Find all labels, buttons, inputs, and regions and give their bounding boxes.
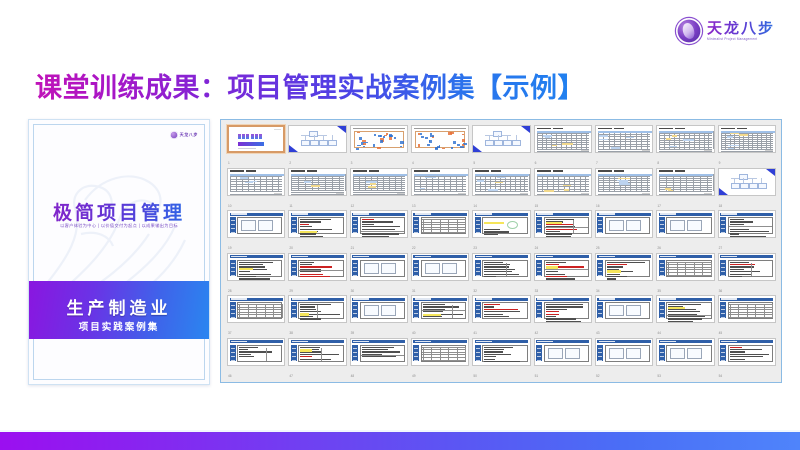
- slide-thumbnail-cell[interactable]: 35: [656, 253, 714, 294]
- slide-thumbnail-cell[interactable]: 42: [534, 295, 592, 336]
- slide-thumbnail[interactable]: [227, 125, 285, 153]
- slide-number: 34: [596, 290, 600, 293]
- slide-thumbnail-cell[interactable]: 34: [595, 253, 653, 294]
- slide-thumbnail[interactable]: [227, 295, 285, 323]
- slide-thumbnail[interactable]: [288, 253, 346, 281]
- slide-thumbnail-cell[interactable]: 14: [472, 168, 530, 209]
- slide-thumbnail[interactable]: [472, 295, 530, 323]
- slide-thumbnail-cell[interactable]: 54: [718, 338, 776, 379]
- slide-thumbnail[interactable]: [534, 295, 592, 323]
- slide-thumbnail-cell[interactable]: 22: [411, 210, 469, 251]
- dragon-circle-icon-small: [170, 131, 178, 139]
- slide-number: 22: [412, 247, 416, 250]
- slide-thumbnail[interactable]: [411, 168, 469, 196]
- slide-number: 18: [719, 205, 723, 208]
- slide-thumbnail-cell[interactable]: 45: [718, 295, 776, 336]
- slide-thumbnail-cell[interactable]: 31: [411, 253, 469, 294]
- slide-thumbnail[interactable]: [656, 168, 714, 196]
- slide-number: 39: [351, 332, 355, 335]
- slide-thumbnail-cell[interactable]: 23: [472, 210, 530, 251]
- slide-thumbnail-cell[interactable]: 47: [288, 338, 346, 379]
- slide-thumbnail-cell[interactable]: 49: [411, 338, 469, 379]
- slide-thumbnail-cell[interactable]: 48: [350, 338, 408, 379]
- slide-thumbnail-cell[interactable]: 11: [288, 168, 346, 209]
- slide-thumbnail-cell[interactable]: 27: [718, 210, 776, 251]
- slide-thumbnail[interactable]: [411, 210, 469, 238]
- slide-thumbnail[interactable]: [595, 338, 653, 366]
- book-main-title: 极简项目管理: [29, 198, 209, 225]
- slide-thumbnail-cell[interactable]: 6: [534, 125, 592, 166]
- slide-thumbnail[interactable]: [350, 338, 408, 366]
- slide-number: 47: [289, 375, 293, 378]
- slide-thumbnail-cell[interactable]: 24: [534, 210, 592, 251]
- slide-thumbnail[interactable]: [718, 295, 776, 323]
- slide-thumbnail[interactable]: [472, 125, 530, 153]
- slide-thumbnail[interactable]: [350, 253, 408, 281]
- slide-number: 53: [657, 375, 661, 378]
- slide-number: 24: [535, 247, 539, 250]
- slide-number: 21: [351, 247, 355, 250]
- slide-number: 10: [228, 205, 232, 208]
- slide-thumbnail-cell[interactable]: 40: [411, 295, 469, 336]
- slide-thumbnail[interactable]: [227, 338, 285, 366]
- slide-number: 4: [412, 162, 414, 165]
- slide-thumbnail[interactable]: [288, 168, 346, 196]
- slide-number: 16: [596, 205, 600, 208]
- book-band-title: 生产制造业: [29, 294, 209, 319]
- slide-thumbnail-cell[interactable]: 2: [288, 125, 346, 166]
- book-cover-logo: 天龙八步: [170, 131, 198, 139]
- slide-number: 12: [351, 205, 355, 208]
- brand-logo: 天龙八步 Minimalist Project Management: [676, 14, 788, 48]
- slide-number: 45: [719, 332, 723, 335]
- slide-number: 9: [719, 162, 721, 165]
- slide-thumbnail-cell[interactable]: 12: [350, 168, 408, 209]
- slide-number: 15: [535, 205, 539, 208]
- book-band-subtitle: 项目实践案例集: [29, 319, 209, 333]
- slide-number: 41: [473, 332, 477, 335]
- slide-thumbnail[interactable]: [472, 253, 530, 281]
- slide-thumbnail[interactable]: [595, 168, 653, 196]
- slide-thumbnail[interactable]: [656, 125, 714, 153]
- slide-number: 35: [657, 290, 661, 293]
- slide-thumbnail-cell[interactable]: 50: [472, 338, 530, 379]
- slide-number: 23: [473, 247, 477, 250]
- slide-number: 48: [351, 375, 355, 378]
- slide-thumbnail[interactable]: [288, 295, 346, 323]
- slide-thumbnail[interactable]: [534, 125, 592, 153]
- slide-thumbnail[interactable]: [350, 125, 408, 153]
- slide-number: 27: [719, 247, 723, 250]
- slide-number: 30: [351, 290, 355, 293]
- slide-thumbnail-cell[interactable]: 8: [656, 125, 714, 166]
- slide-thumbnail[interactable]: [350, 295, 408, 323]
- slide-thumbnail-panel[interactable]: 1234567891011121314151617181920212223242…: [220, 119, 782, 383]
- slide-thumbnail[interactable]: [411, 125, 469, 153]
- slide-number: 28: [228, 290, 232, 293]
- slide-thumbnail-cell[interactable]: 13: [411, 168, 469, 209]
- slide-thumbnail-cell[interactable]: 32: [472, 253, 530, 294]
- dragon-circle-icon: [676, 18, 702, 44]
- slide-thumbnail-cell[interactable]: 39: [350, 295, 408, 336]
- slide-thumbnail-cell[interactable]: 30: [350, 253, 408, 294]
- slide-thumbnail[interactable]: [472, 338, 530, 366]
- slide-number: 29: [289, 290, 293, 293]
- slide-thumbnail[interactable]: [350, 168, 408, 196]
- brand-tagline: Minimalist Project Management: [707, 38, 775, 41]
- slide-thumbnail[interactable]: [656, 295, 714, 323]
- slide-number: 6: [535, 162, 537, 165]
- slide-number: 14: [473, 205, 477, 208]
- slide-thumbnail-cell[interactable]: 41: [472, 295, 530, 336]
- slide-thumbnail[interactable]: [411, 295, 469, 323]
- slide-thumbnail-cell[interactable]: 10: [227, 168, 285, 209]
- slide-thumbnail[interactable]: [350, 210, 408, 238]
- slide-number: 43: [596, 332, 600, 335]
- slide-thumbnail[interactable]: [718, 168, 776, 196]
- slide-thumbnail-cell[interactable]: 38: [288, 295, 346, 336]
- slide-number: 31: [412, 290, 416, 293]
- slide-thumbnail[interactable]: [227, 210, 285, 238]
- slide-thumbnail[interactable]: [534, 210, 592, 238]
- slide-thumbnail-cell[interactable]: 19: [227, 210, 285, 251]
- slide-thumbnail-cell[interactable]: 18: [718, 168, 776, 209]
- slide-thumbnail[interactable]: [595, 253, 653, 281]
- slide-number: 32: [473, 290, 477, 293]
- slide-thumbnail[interactable]: [411, 253, 469, 281]
- slide-thumbnail[interactable]: [288, 210, 346, 238]
- slide-number: 37: [228, 332, 232, 335]
- slide-number: 2: [289, 162, 291, 165]
- slide-thumbnail[interactable]: [595, 295, 653, 323]
- slide-thumbnail-cell[interactable]: 36: [718, 253, 776, 294]
- slide-number: 50: [473, 375, 477, 378]
- slide-thumbnail[interactable]: [718, 338, 776, 366]
- slide-thumbnail[interactable]: [718, 125, 776, 153]
- slide-thumbnail-cell[interactable]: 43: [595, 295, 653, 336]
- slide-thumbnail[interactable]: [472, 210, 530, 238]
- slide-number: 36: [719, 290, 723, 293]
- slide-thumbnail[interactable]: [595, 210, 653, 238]
- slide-number: 38: [289, 332, 293, 335]
- slide-thumbnail-grid: 1234567891011121314151617181920212223242…: [227, 125, 776, 378]
- slide-number: 17: [657, 205, 661, 208]
- slide-number: 1: [228, 162, 230, 165]
- slide-thumbnail[interactable]: [534, 338, 592, 366]
- book-cover: 天龙八步 极简项目管理 以客户体验为中心 | 以价值交付为起点 | 以成果输出为…: [28, 119, 210, 385]
- slide-number: 51: [535, 375, 539, 378]
- slide-thumbnail[interactable]: [595, 125, 653, 153]
- book-cover-logo-text: 天龙八步: [180, 132, 198, 138]
- book-subtitle: 以客户体验为中心 | 以价值交付为起点 | 以成果输出为目标: [29, 223, 209, 229]
- slide-thumbnail[interactable]: [227, 253, 285, 281]
- slide-number: 7: [596, 162, 598, 165]
- slide-thumbnail-cell[interactable]: 15: [534, 168, 592, 209]
- slide-thumbnail[interactable]: [534, 253, 592, 281]
- slide-thumbnail[interactable]: [411, 338, 469, 366]
- slide-thumbnail[interactable]: [472, 168, 530, 196]
- slide-thumbnail-cell[interactable]: 28: [227, 253, 285, 294]
- slide-number: 11: [289, 205, 292, 208]
- slide-number: 25: [596, 247, 600, 250]
- slide-thumbnail-cell[interactable]: 16: [595, 168, 653, 209]
- slide-number: 54: [719, 375, 723, 378]
- slide-number: 52: [596, 375, 600, 378]
- slide-thumbnail-cell[interactable]: 52: [595, 338, 653, 379]
- page-title: 课堂训练成果：项目管理实战案例集【示例】: [35, 66, 585, 105]
- slide-thumbnail-cell[interactable]: 21: [350, 210, 408, 251]
- slide-number: 44: [657, 332, 661, 335]
- slide-thumbnail-cell[interactable]: 4: [411, 125, 469, 166]
- slide-thumbnail-cell[interactable]: 46: [227, 338, 285, 379]
- slide-thumbnail[interactable]: [656, 210, 714, 238]
- slide-thumbnail[interactable]: [656, 338, 714, 366]
- brand-text: 天龙八步 Minimalist Project Management: [707, 21, 775, 42]
- slide-thumbnail-cell[interactable]: 33: [534, 253, 592, 294]
- slide-number: 20: [289, 247, 293, 250]
- slide-thumbnail[interactable]: [656, 253, 714, 281]
- slide-number: 8: [657, 162, 659, 165]
- footer-gradient-bar: [0, 432, 800, 450]
- slide-number: 26: [657, 247, 661, 250]
- slide-thumbnail[interactable]: [288, 338, 346, 366]
- slide-thumbnail-cell[interactable]: 3: [350, 125, 408, 166]
- slide-thumbnail[interactable]: [288, 125, 346, 153]
- slide-thumbnail-cell[interactable]: 25: [595, 210, 653, 251]
- slide-number: 33: [535, 290, 539, 293]
- slide-thumbnail-cell[interactable]: 44: [656, 295, 714, 336]
- slide-thumbnail-cell[interactable]: 5: [472, 125, 530, 166]
- slide-number: 46: [228, 375, 232, 378]
- slide-thumbnail-cell[interactable]: 17: [656, 168, 714, 209]
- slide-thumbnail-cell[interactable]: 9: [718, 125, 776, 166]
- slide-number: 13: [412, 205, 416, 208]
- slide-thumbnail[interactable]: [534, 168, 592, 196]
- slide-thumbnail-cell[interactable]: 26: [656, 210, 714, 251]
- slide-thumbnail[interactable]: [718, 210, 776, 238]
- slide-thumbnail-cell[interactable]: 7: [595, 125, 653, 166]
- slide-number: 40: [412, 332, 416, 335]
- slide-number: 5: [473, 162, 475, 165]
- slide-thumbnail[interactable]: [227, 168, 285, 196]
- slide-thumbnail-cell[interactable]: 53: [656, 338, 714, 379]
- slide-thumbnail[interactable]: [718, 253, 776, 281]
- slide-number: 3: [351, 162, 353, 165]
- slide-thumbnail-cell[interactable]: 20: [288, 210, 346, 251]
- slide-number: 49: [412, 375, 416, 378]
- slide-thumbnail-cell[interactable]: 51: [534, 338, 592, 379]
- brand-name: 天龙八步: [707, 21, 775, 36]
- slide-thumbnail-cell[interactable]: 1: [227, 125, 285, 166]
- slide-number: 19: [228, 247, 232, 250]
- slide-number: 42: [535, 332, 539, 335]
- slide-thumbnail-cell[interactable]: 29: [288, 253, 346, 294]
- slide-thumbnail-cell[interactable]: 37: [227, 295, 285, 336]
